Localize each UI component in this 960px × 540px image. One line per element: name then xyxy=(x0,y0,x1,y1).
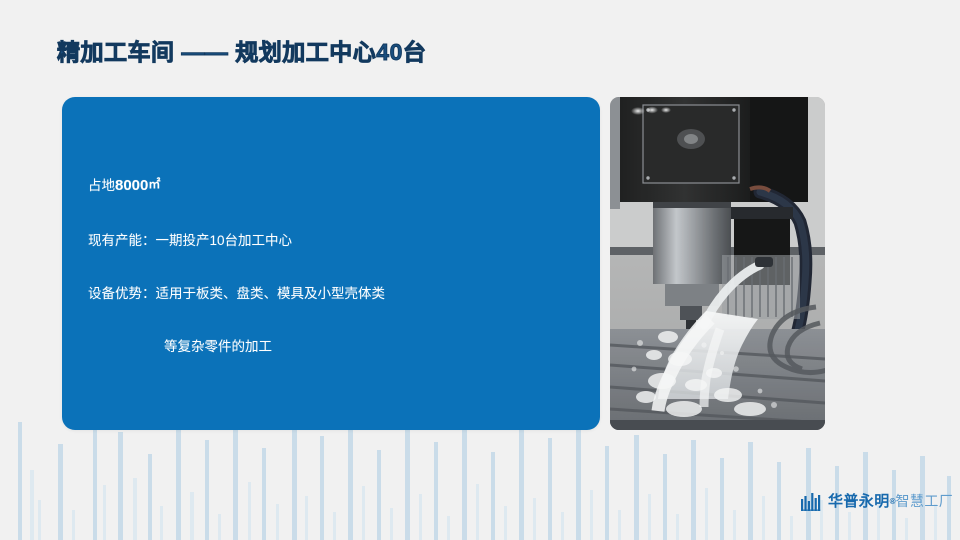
decorative-bar xyxy=(333,512,336,540)
decorative-bar xyxy=(18,422,22,540)
page-title: 精加工车间 —— 规划加工中心40台 xyxy=(57,33,426,67)
decorative-bar xyxy=(476,484,479,540)
decorative-bar xyxy=(103,485,106,540)
decorative-bar xyxy=(72,510,75,540)
decorative-bar xyxy=(160,506,163,540)
decorative-bar xyxy=(733,510,736,540)
decorative-bar xyxy=(292,416,297,540)
decorative-bar xyxy=(533,498,536,540)
logo-company-name: 华普永明 xyxy=(828,494,890,509)
content-panel: 占地8000㎡ 现有产能：一期投产10台加工中心 设备优势：适用于板类、盘类、模… xyxy=(62,97,600,430)
decorative-bar xyxy=(377,450,381,540)
decorative-bar xyxy=(663,454,667,540)
decorative-bar xyxy=(762,496,765,540)
decorative-bar xyxy=(276,504,279,540)
decorative-bar xyxy=(118,432,123,540)
decorative-bar xyxy=(561,512,564,540)
decorative-bar xyxy=(905,518,908,540)
panel-line-area: 占地8000㎡ xyxy=(88,175,582,198)
area-value: 8000 xyxy=(115,177,148,194)
decorative-bar xyxy=(748,442,753,540)
decorative-bar xyxy=(30,470,34,540)
decorative-bar xyxy=(348,428,353,540)
photo-graphic xyxy=(610,97,825,430)
area-label: 占地 xyxy=(88,178,115,193)
logo-subtitle: 智慧工厂 xyxy=(896,494,954,508)
panel-line-advantage-cont: 等复杂零件的加工 xyxy=(88,337,582,357)
decorative-bar xyxy=(848,512,851,540)
decorative-bar xyxy=(262,448,266,540)
decorative-bar xyxy=(405,414,410,540)
decorative-bar xyxy=(605,446,609,540)
factory-bars-icon xyxy=(801,492,823,511)
panel-line-advantage: 设备优势：适用于板类、盘类、模具及小型壳体类 xyxy=(88,284,582,304)
decorative-bar xyxy=(447,516,450,540)
brand-logo: 华普永明®智慧工厂 xyxy=(801,490,953,512)
decorative-bar xyxy=(38,500,41,540)
area-unit: ㎡ xyxy=(148,177,160,191)
decorative-bar xyxy=(362,486,365,540)
decorative-bar xyxy=(190,492,194,540)
panel-text-block: 占地8000㎡ 现有产能：一期投产10台加工中心 设备优势：适用于板类、盘类、模… xyxy=(88,175,582,357)
decorative-bar xyxy=(390,508,393,540)
decorative-bar xyxy=(590,490,593,540)
decorative-bar xyxy=(790,516,793,540)
decorative-bar xyxy=(777,462,781,540)
decorative-bar xyxy=(504,506,507,540)
decorative-bar xyxy=(205,440,209,540)
decorative-bar xyxy=(320,436,324,540)
decorative-bar xyxy=(93,412,97,540)
decorative-bar xyxy=(648,494,651,540)
decorative-bar xyxy=(434,442,438,540)
decorative-bar xyxy=(133,478,137,540)
decorative-bar xyxy=(419,494,422,540)
decorative-bar xyxy=(676,514,679,540)
decorative-bar xyxy=(305,496,308,540)
panel-line-capacity: 现有产能：一期投产10台加工中心 xyxy=(88,231,582,251)
decorative-bar xyxy=(218,514,221,540)
decorative-bar xyxy=(720,458,724,540)
decorative-bar xyxy=(491,452,495,540)
decorative-bar xyxy=(618,510,621,540)
slide-canvas: 精加工车间 —— 规划加工中心40台 占地8000㎡ 现有产能：一期投产10台加… xyxy=(0,0,960,540)
decorative-bar xyxy=(248,482,251,540)
decorative-bar xyxy=(519,420,524,540)
decorative-bar xyxy=(462,422,467,540)
decorative-bar xyxy=(705,488,708,540)
decorative-bar xyxy=(148,454,152,540)
decorative-bar xyxy=(176,418,181,540)
decorative-bar xyxy=(233,425,238,540)
decorative-bar xyxy=(58,444,63,540)
decorative-bar xyxy=(548,438,552,540)
decorative-bar xyxy=(691,440,696,540)
decorative-bar xyxy=(634,435,639,540)
machining-center-photo xyxy=(610,97,825,430)
decorative-bar xyxy=(576,430,581,540)
